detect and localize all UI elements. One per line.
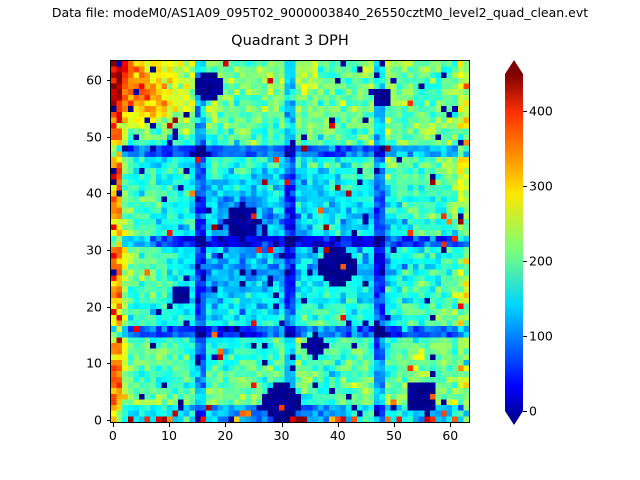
colorbar [505,60,523,425]
y-tick-mark [107,137,111,138]
chart-title: Quadrant 3 DPH [110,32,470,50]
x-tick-mark [169,423,170,427]
colorbar-tick-mark [523,186,527,187]
colorbar-gradient [505,60,523,425]
x-tick-mark [113,423,114,427]
x-tick-label: 10 [161,429,177,442]
colorbar-tick-mark [523,261,527,262]
heatmap-axes [110,60,470,423]
x-tick-label: 40 [330,429,346,442]
x-tick-mark [282,423,283,427]
y-tick-label: 60 [68,73,102,86]
y-tick-mark [107,307,111,308]
colorbar-tick-label: 0 [529,405,537,418]
colorbar-tick-mark [523,411,527,412]
colorbar-tick-mark [523,111,527,112]
x-tick-mark [225,423,226,427]
y-tick-mark [107,193,111,194]
colorbar-tick-label: 300 [529,180,553,193]
y-tick-label: 10 [68,357,102,370]
y-tick-mark [107,363,111,364]
x-tick-label: 30 [274,429,290,442]
y-tick-mark [107,420,111,421]
x-tick-mark [338,423,339,427]
y-tick-label: 30 [68,244,102,257]
x-tick-label: 50 [386,429,402,442]
colorbar-tick-label: 100 [529,330,553,343]
y-tick-label: 50 [68,130,102,143]
y-tick-mark [107,80,111,81]
x-tick-label: 60 [442,429,458,442]
x-tick-mark [450,423,451,427]
y-tick-label: 0 [68,414,102,427]
colorbar-tick-label: 200 [529,255,553,268]
y-tick-label: 20 [68,300,102,313]
x-tick-mark [394,423,395,427]
figure-canvas: Data file: modeM0/AS1A09_095T02_90000038… [0,0,640,480]
y-tick-mark [107,250,111,251]
colorbar-tick-label: 400 [529,105,553,118]
y-tick-label: 40 [68,187,102,200]
heatmap-image [111,61,469,422]
colorbar-tick-mark [523,336,527,337]
x-tick-label: 20 [217,429,233,442]
x-tick-label: 0 [109,429,117,442]
data-file-label: Data file: modeM0/AS1A09_095T02_90000038… [0,6,640,20]
